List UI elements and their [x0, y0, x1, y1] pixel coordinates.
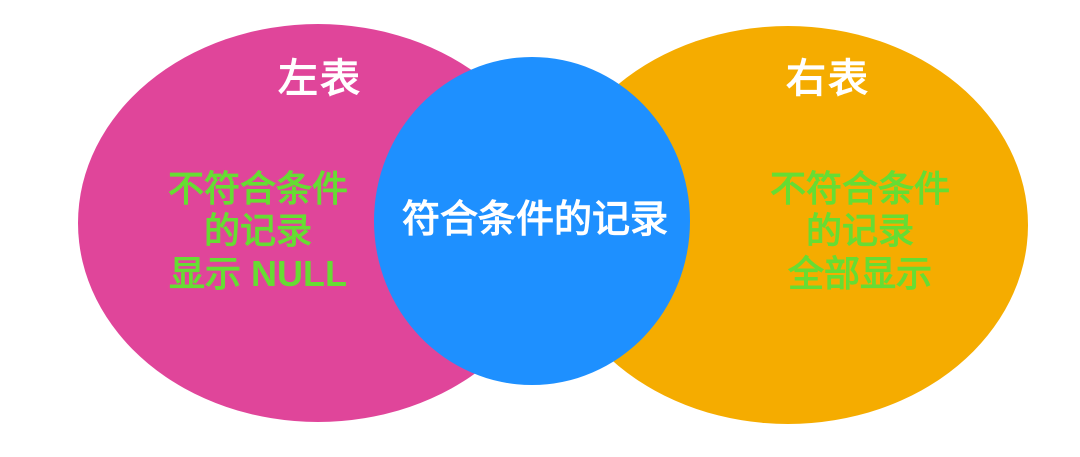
venn-diagram: 左表 不符合条件 的记录 显示 NULL 符合条件的记录 右表 不符合条件 的记… [0, 0, 1080, 457]
intersection-ellipse-shape [374, 57, 690, 385]
venn-shapes [0, 0, 1080, 457]
